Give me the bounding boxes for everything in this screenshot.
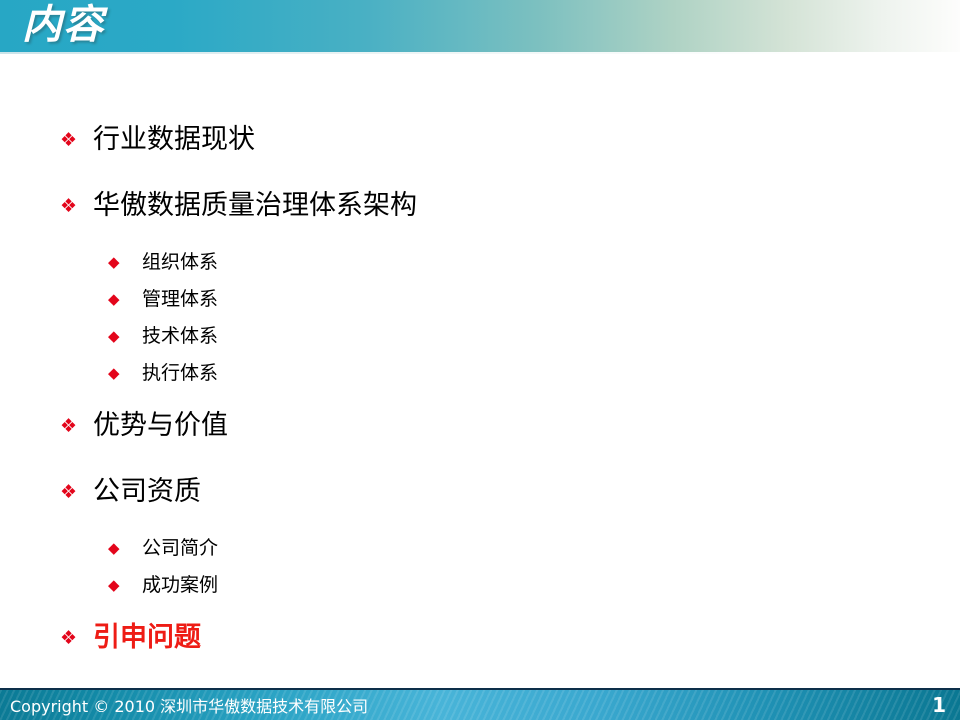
slide-header-band: 内容 [0, 0, 960, 52]
list-spacer [0, 462, 960, 472]
diamond-cluster-bullet-icon: ❖ [58, 472, 93, 512]
diamond-bullet-icon: ◆ [108, 359, 142, 387]
diamond-bullet-icon: ◆ [108, 285, 142, 313]
diamond-cluster-bullet-icon: ❖ [58, 186, 93, 226]
list-item-label: 华傲数据质量治理体系架构 [93, 186, 417, 226]
list-item-label: 行业数据现状 [93, 120, 255, 160]
list-item[interactable]: ❖华傲数据质量治理体系架构 [0, 186, 960, 242]
list-item-label: 公司简介 [142, 534, 218, 562]
header-divider [0, 52, 960, 54]
page-number: 1 [932, 691, 946, 720]
slide-footer-band: Copyright © 2010 深圳市华傲数据技术有限公司 1 [0, 688, 960, 720]
list-item[interactable]: ◆技术体系 [0, 322, 960, 359]
list-item[interactable]: ◆成功案例 [0, 571, 960, 608]
list-item-label: 成功案例 [142, 571, 218, 599]
diamond-cluster-bullet-icon: ❖ [58, 618, 93, 658]
diamond-bullet-icon: ◆ [108, 248, 142, 276]
list-item-label: 技术体系 [142, 322, 218, 350]
slide: 内容 ❖行业数据现状❖华傲数据质量治理体系架构◆组织体系◆管理体系◆技术体系◆执… [0, 0, 960, 720]
list-item-label: 引申问题 [93, 618, 201, 658]
list-item[interactable]: ❖公司资质 [0, 472, 960, 528]
list-spacer [0, 396, 960, 406]
list-spacer [0, 176, 960, 186]
copyright-text: Copyright © 2010 深圳市华傲数据技术有限公司 [10, 694, 368, 720]
list-spacer [0, 608, 960, 618]
list-item-label: 公司资质 [93, 472, 201, 512]
list-item[interactable]: ◆公司简介 [0, 534, 960, 571]
list-item[interactable]: ❖行业数据现状 [0, 120, 960, 176]
page-title: 内容 [22, 0, 104, 51]
list-item[interactable]: ◆管理体系 [0, 285, 960, 322]
diamond-bullet-icon: ◆ [108, 571, 142, 599]
diamond-cluster-bullet-icon: ❖ [58, 120, 93, 160]
list-item-label: 管理体系 [142, 285, 218, 313]
diamond-bullet-icon: ◆ [108, 322, 142, 350]
list-item[interactable]: ◆执行体系 [0, 359, 960, 396]
list-item-label: 执行体系 [142, 359, 218, 387]
list-item-label: 优势与价值 [93, 406, 228, 446]
diamond-bullet-icon: ◆ [108, 534, 142, 562]
list-item-label: 组织体系 [142, 248, 218, 276]
list-item[interactable]: ❖引申问题 [0, 618, 960, 674]
list-item[interactable]: ❖优势与价值 [0, 406, 960, 462]
diamond-cluster-bullet-icon: ❖ [58, 406, 93, 446]
agenda-list: ❖行业数据现状❖华傲数据质量治理体系架构◆组织体系◆管理体系◆技术体系◆执行体系… [0, 120, 960, 674]
list-item[interactable]: ◆组织体系 [0, 248, 960, 285]
